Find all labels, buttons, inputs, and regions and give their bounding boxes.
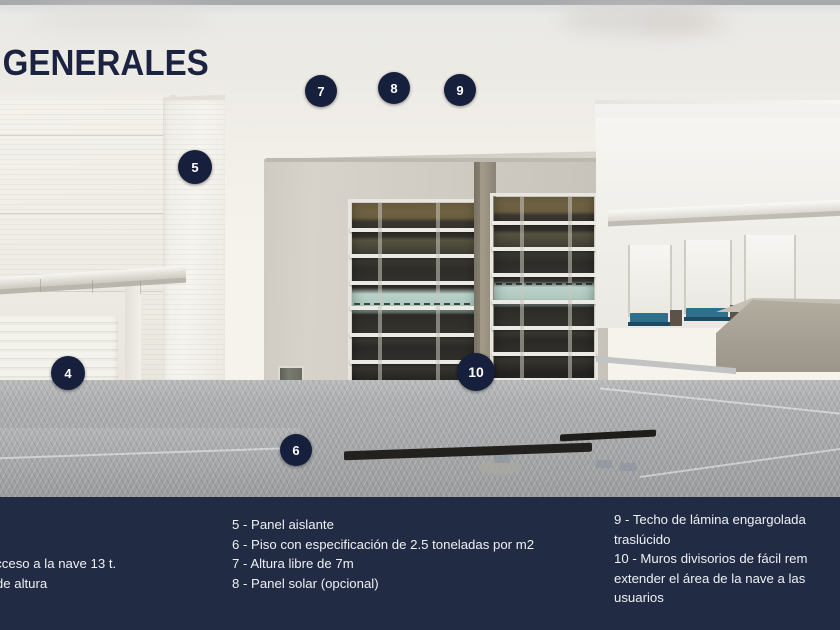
sky-haze [640, 14, 730, 32]
legend-item: 10 - Muros divisorios de fácil rem [614, 549, 840, 569]
mullion-vertical [378, 203, 382, 410]
legend-item: e con 4m de altura [0, 574, 116, 594]
photo-marker-4[interactable]: 4 [51, 356, 85, 390]
legend-spacer [0, 535, 116, 555]
photo-top-edge [0, 0, 840, 5]
mullion [492, 247, 596, 251]
photo-marker-5[interactable]: 5 [178, 150, 212, 184]
pavement-tile [494, 455, 510, 463]
legend-item: traslúcido [614, 530, 840, 550]
legend-item: 7 - Altura libre de 7m [232, 554, 534, 574]
pavement-texture [0, 428, 300, 497]
dock-door [684, 240, 732, 314]
legend-column-3: 9 - Techo de lámina engargolada traslúci… [614, 510, 840, 608]
dock-door [744, 235, 796, 307]
mullion-vertical [568, 197, 572, 402]
photo-marker-6[interactable]: 6 [280, 434, 312, 466]
sky-haze [30, 6, 210, 32]
legend-item: 5 - Panel aislante [232, 515, 534, 535]
legend-item: 8 - Panel solar (opcional) [232, 574, 534, 594]
legend-item: 9 - Techo de lámina engargolada [614, 510, 840, 530]
photo-marker-10[interactable]: 10 [457, 353, 495, 391]
photo-marker-8[interactable]: 8 [378, 72, 410, 104]
mullion [350, 254, 478, 258]
legend-item: extender el área de la nave a las [614, 569, 840, 589]
dock-door [628, 245, 672, 317]
dock-edge [684, 317, 730, 321]
legend-item: 6 - Piso con especificación de 2.5 tonel… [232, 535, 534, 555]
mullion [492, 300, 596, 304]
slide-root: STICAS GENERALES 4 5 6 7 8 9 10 ica 5 kV… [0, 0, 840, 630]
mullion-vertical [520, 197, 524, 402]
mullion [492, 352, 596, 356]
legend-item: ica 5 kVA [0, 515, 116, 535]
paved-ground-left [0, 428, 300, 497]
dock-edge [628, 322, 670, 326]
mullion [350, 281, 478, 285]
pavement-tile [620, 463, 636, 471]
legend-column-2: 5 - Panel aislante 6 - Piso con especifi… [232, 515, 534, 593]
legend-column-1: ica 5 kVA dock de acceso a la nave 13 t.… [0, 515, 116, 593]
mullion [492, 273, 596, 277]
photo-marker-7[interactable]: 7 [305, 75, 337, 107]
vent-louver-line [496, 283, 592, 285]
dock-bumper [670, 310, 682, 326]
pavement-tile [596, 460, 612, 468]
page-title: STICAS GENERALES [0, 42, 209, 84]
mullion-vertical [436, 203, 440, 410]
mullion [350, 333, 478, 337]
vent-louver-line [354, 303, 470, 305]
center-block-coping [266, 158, 604, 162]
mullion [492, 326, 596, 330]
legend-item: usuarios [614, 588, 840, 608]
legend-footer: ica 5 kVA dock de acceso a la nave 13 t.… [0, 497, 840, 630]
building-photo: STICAS GENERALES 4 5 6 7 8 9 10 [0, 0, 840, 497]
mullion [350, 228, 478, 232]
kerb [596, 356, 736, 374]
legend-item: dock de acceso a la nave 13 t. [0, 554, 116, 574]
mullion [350, 306, 478, 310]
photo-marker-9[interactable]: 9 [444, 74, 476, 106]
mullion [492, 221, 596, 225]
